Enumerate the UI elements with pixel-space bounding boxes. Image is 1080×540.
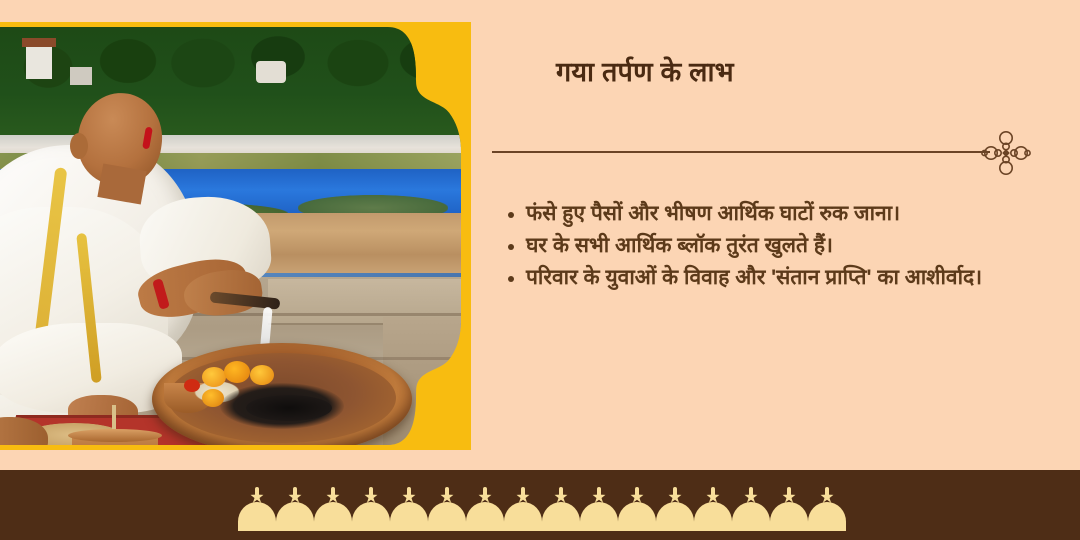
list-item-label: घर के सभी आर्थिक ब्लॉक तुरंत खुलते हैं। [526, 231, 1028, 261]
photo-image [0, 27, 461, 445]
list-item-label: परिवार के युवाओं के विवाह और 'संतान प्रा… [526, 263, 1028, 293]
photo-building-2 [70, 67, 92, 85]
photo-marigold-4 [202, 389, 224, 407]
temple-dome-icon [352, 488, 390, 530]
page-title: गया तर्पण के लाभ [556, 56, 1026, 90]
temple-dome-icon [390, 488, 428, 530]
photo-priest-ear [70, 133, 88, 159]
divider [492, 139, 1032, 165]
photo-marigold-1 [202, 367, 226, 387]
temple-dome-baseline [238, 528, 846, 531]
temple-dome-icon [656, 488, 694, 530]
photo-background-trees [0, 27, 461, 147]
temple-dome-icon [466, 488, 504, 530]
temple-dome-icon [694, 488, 732, 530]
list-item-label: फंसे हुए पैसों और भीषण आर्थिक घाटों रुक … [526, 199, 1028, 229]
quatrefoil-knot-ornament-icon [980, 129, 1032, 177]
temple-dome-icon [580, 488, 618, 530]
photo-copper-pot-rim [68, 429, 162, 442]
temple-dome-icon [732, 488, 770, 530]
temple-dome-icon [276, 488, 314, 530]
list-item: घर के सभी आर्थिक ब्लॉक तुरंत खुलते हैं। [508, 231, 1028, 261]
photo-building-1 [26, 45, 52, 79]
temple-dome-icon [428, 488, 466, 530]
divider-line [492, 151, 990, 153]
temple-dome-icon [618, 488, 656, 530]
temple-dome-icon [314, 488, 352, 530]
photo-priest-neck [97, 163, 146, 204]
bullet-dot-icon [508, 276, 514, 282]
photo-black-sesame-core [246, 395, 332, 421]
temple-dome-icon [542, 488, 580, 530]
temple-dome-row [238, 488, 846, 530]
temple-dome-icon [808, 488, 846, 530]
benefits-list: फंसे हुए पैसों और भीषण आर्थिक घाटों रुक … [508, 199, 1028, 294]
poster-canvas: गया तर्पण के लाभ फंसे हुए पैसों और भीषण … [0, 0, 1080, 540]
photo-building-3 [256, 61, 286, 83]
photo-marigold-3 [250, 365, 274, 385]
photo-marigold-2 [224, 361, 250, 383]
temple-dome-icon [504, 488, 542, 530]
photo-red-petal [184, 379, 200, 392]
list-item: फंसे हुए पैसों और भीषण आर्थिक घाटों रुक … [508, 199, 1028, 229]
list-item: परिवार के युवाओं के विवाह और 'संतान प्रा… [508, 263, 1028, 293]
bullet-dot-icon [508, 212, 514, 218]
temple-dome-icon [238, 488, 276, 530]
temple-dome-icon [770, 488, 808, 530]
bullet-dot-icon [508, 244, 514, 250]
